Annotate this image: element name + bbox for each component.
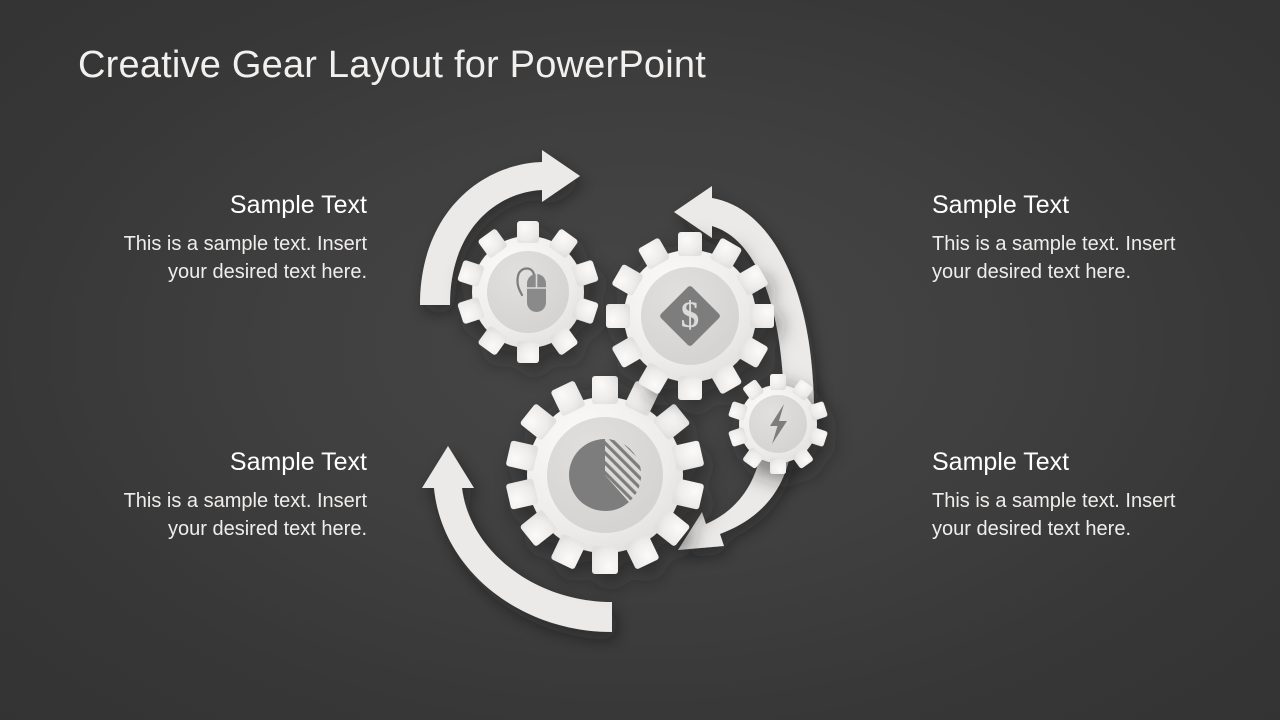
gear-diagram: $ (390, 150, 890, 670)
page-title: Creative Gear Layout for PowerPoint (78, 44, 706, 87)
svg-text:$: $ (681, 295, 700, 336)
text-block-body: This is a sample text. Insert your desir… (932, 487, 1197, 544)
text-block-body: This is a sample text. Insert your desir… (102, 230, 367, 287)
gear-pie[interactable] (506, 376, 705, 574)
text-block-bottom-right: Sample Text This is a sample text. Inser… (932, 449, 1197, 543)
text-block-top-right: Sample Text This is a sample text. Inser… (932, 192, 1197, 286)
text-block-body: This is a sample text. Insert your desir… (102, 487, 367, 544)
gear-mouse[interactable] (457, 221, 599, 363)
pie-chart-icon (569, 439, 641, 511)
text-block-body: This is a sample text. Insert your desir… (932, 230, 1197, 287)
text-block-top-left: Sample Text This is a sample text. Inser… (102, 192, 367, 286)
text-block-heading: Sample Text (932, 449, 1197, 477)
text-block-heading: Sample Text (932, 192, 1197, 220)
gear-dollar[interactable]: $ (606, 232, 774, 400)
text-block-heading: Sample Text (102, 449, 367, 477)
text-block-bottom-left: Sample Text This is a sample text. Inser… (102, 449, 367, 543)
text-block-heading: Sample Text (102, 192, 367, 220)
